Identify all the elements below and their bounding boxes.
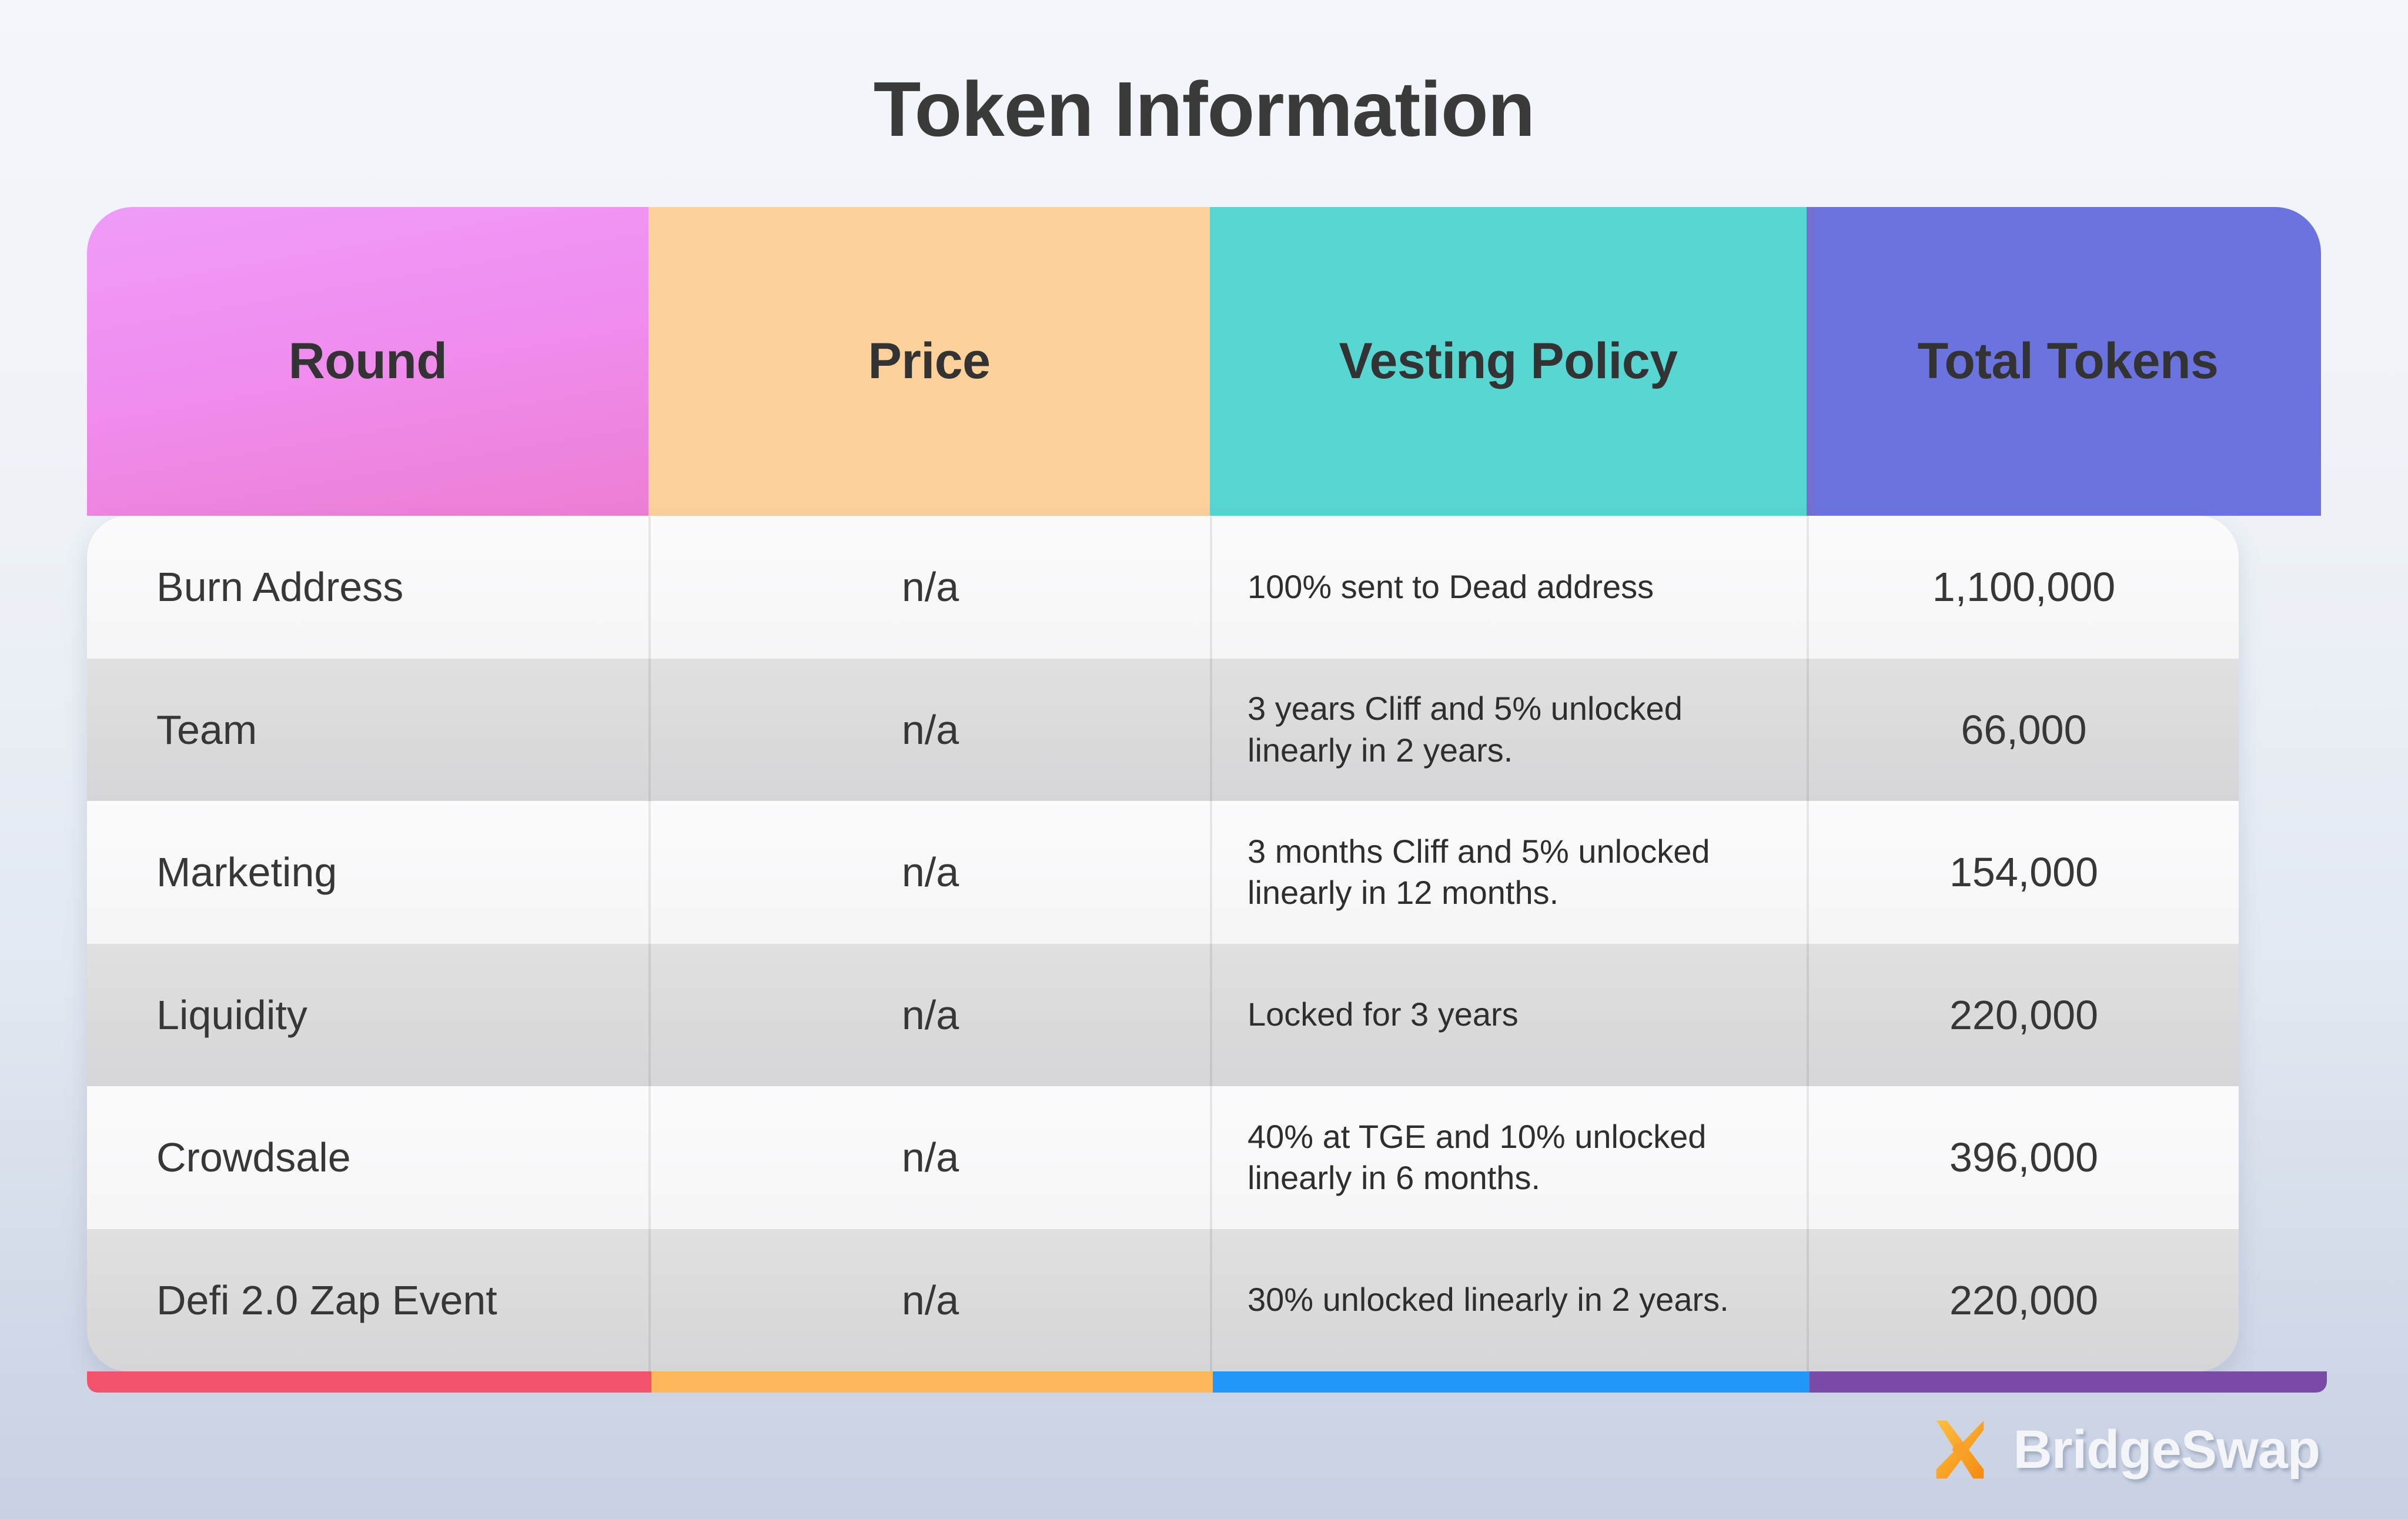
token-information-table: Round Price Vesting Policy Total Tokens … xyxy=(87,207,2321,1402)
cell-price: n/a xyxy=(648,516,1210,659)
table-row: Burn Address n/a 100% sent to Dead addre… xyxy=(87,516,2239,659)
column-header-price: Price xyxy=(648,207,1210,516)
cell-vesting: 40% at TGE and 10% unlocked linearly in … xyxy=(1210,1086,1807,1229)
cell-price: n/a xyxy=(648,801,1210,944)
cell-total: 66,000 xyxy=(1807,659,2239,802)
cell-price: n/a xyxy=(648,659,1210,802)
cell-total: 220,000 xyxy=(1807,1229,2239,1372)
bridgeswap-x-icon xyxy=(1927,1417,1993,1483)
cell-price: n/a xyxy=(648,1229,1210,1372)
accent-segment-orange xyxy=(651,1371,1213,1393)
accent-segment-blue xyxy=(1213,1371,1810,1393)
cell-round: Burn Address xyxy=(87,516,648,659)
table-row: Team n/a 3 years Cliff and 5% unlocked l… xyxy=(87,659,2239,802)
brand-logo: BridgeSwap xyxy=(1927,1417,2320,1483)
brand-name: BridgeSwap xyxy=(2013,1419,2320,1481)
page-title: Token Information xyxy=(0,71,2408,148)
cell-price: n/a xyxy=(648,944,1210,1087)
cell-vesting: 3 months Cliff and 5% unlocked linearly … xyxy=(1210,801,1807,944)
cell-round: Marketing xyxy=(87,801,648,944)
table-row: Liquidity n/a Locked for 3 years 220,000 xyxy=(87,944,2239,1087)
bottom-accent-bar xyxy=(87,1371,2327,1393)
table-row: Marketing n/a 3 months Cliff and 5% unlo… xyxy=(87,801,2239,944)
cell-round: Team xyxy=(87,659,648,802)
column-header-round: Round xyxy=(87,207,648,516)
table-row: Crowdsale n/a 40% at TGE and 10% unlocke… xyxy=(87,1086,2239,1229)
table-header-row: Round Price Vesting Policy Total Tokens xyxy=(87,207,2321,516)
column-header-total-tokens: Total Tokens xyxy=(1807,207,2321,516)
cell-vesting: 30% unlocked linearly in 2 years. xyxy=(1210,1229,1807,1372)
table-body: Burn Address n/a 100% sent to Dead addre… xyxy=(87,516,2239,1371)
cell-vesting: 100% sent to Dead address xyxy=(1210,516,1807,659)
cell-round: Defi 2.0 Zap Event xyxy=(87,1229,648,1372)
cell-total: 396,000 xyxy=(1807,1086,2239,1229)
cell-total: 1,100,000 xyxy=(1807,516,2239,659)
cell-total: 220,000 xyxy=(1807,944,2239,1087)
table-row: Defi 2.0 Zap Event n/a 30% unlocked line… xyxy=(87,1229,2239,1372)
cell-round: Crowdsale xyxy=(87,1086,648,1229)
cell-total: 154,000 xyxy=(1807,801,2239,944)
cell-vesting: Locked for 3 years xyxy=(1210,944,1807,1087)
cell-round: Liquidity xyxy=(87,944,648,1087)
cell-vesting: 3 years Cliff and 5% unlocked linearly i… xyxy=(1210,659,1807,802)
column-header-vesting-policy: Vesting Policy xyxy=(1210,207,1807,516)
accent-segment-purple xyxy=(1810,1371,2327,1393)
cell-price: n/a xyxy=(648,1086,1210,1229)
accent-segment-red xyxy=(87,1371,651,1393)
